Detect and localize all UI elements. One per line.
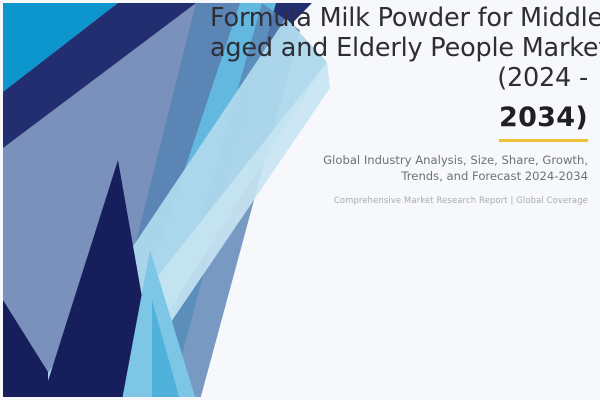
subtitle-line-2: Trends, and Forecast 2024-2034 <box>300 169 588 185</box>
title-year-highlight: 2034) <box>499 102 588 142</box>
title-line-3: (2024 - <box>210 63 588 93</box>
subtitle-line-1: Global Industry Analysis, Size, Share, G… <box>300 153 588 169</box>
title-line-2: aged and Elderly People Market <box>210 33 588 63</box>
report-caption: Comprehensive Market Research Report | G… <box>300 194 588 206</box>
report-cover: Formula Milk Powder for Middle- aged and… <box>0 0 600 400</box>
artwork-left-margin <box>0 0 3 400</box>
title-line-1: Formula Milk Powder for Middle- <box>210 3 588 33</box>
title-year-wrap: 2034) <box>210 102 588 142</box>
subtitle: Global Industry Analysis, Size, Share, G… <box>300 153 588 184</box>
page-title: Formula Milk Powder for Middle- aged and… <box>210 0 588 142</box>
